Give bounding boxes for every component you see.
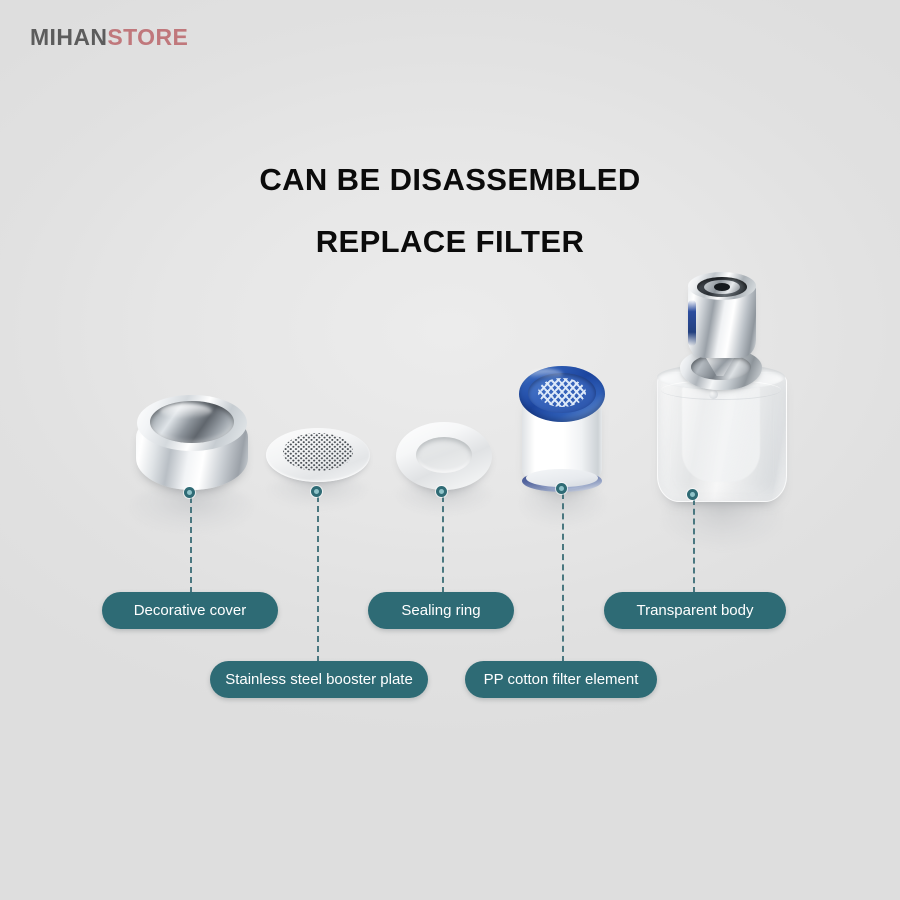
product-infographic: MIHANSTORE CAN BE DISASSEMBLED REPLACE F… [0, 0, 900, 900]
anchor-dot-decorative-cover [184, 487, 195, 498]
perforated-mesh-pattern [283, 433, 353, 471]
part-transparent-body [646, 262, 796, 510]
filter-cap-highlight [529, 369, 563, 379]
anchor-dot-transparent-body [687, 489, 698, 500]
part-decorative-cover [134, 392, 250, 500]
anchor-dot-booster-plate [311, 486, 322, 497]
callout-sealing-ring[interactable]: Sealing ring [368, 592, 514, 629]
part-booster-plate [266, 424, 370, 492]
filter-grid-mesh [538, 378, 586, 407]
sealing-ring-hole [416, 437, 472, 473]
part-sealing-ring [396, 422, 492, 494]
housing-bead [709, 390, 718, 399]
callout-decorative-cover[interactable]: Decorative cover [102, 592, 278, 629]
part-pp-cotton-filter [517, 366, 607, 498]
callout-transparent-body[interactable]: Transparent body [604, 592, 786, 629]
chrome-highlight [160, 404, 212, 418]
anchor-dot-sealing-ring [436, 486, 447, 497]
leader-line-booster-plate [317, 496, 319, 662]
exploded-product-stage: Decorative cover Stainless steel booster… [0, 0, 900, 900]
callout-booster-plate[interactable]: Stainless steel booster plate [210, 661, 428, 698]
leader-line-sealing-ring [442, 496, 444, 593]
leader-line-decorative-cover [190, 497, 192, 593]
anchor-dot-pp-cotton-filter [556, 483, 567, 494]
leader-line-transparent-body [693, 499, 695, 593]
neck-blue-stripe [688, 300, 696, 346]
leader-line-pp-cotton-filter [562, 493, 564, 662]
callout-pp-cotton-filter[interactable]: PP cotton filter element [465, 661, 657, 698]
neck-center-aperture [714, 283, 730, 291]
